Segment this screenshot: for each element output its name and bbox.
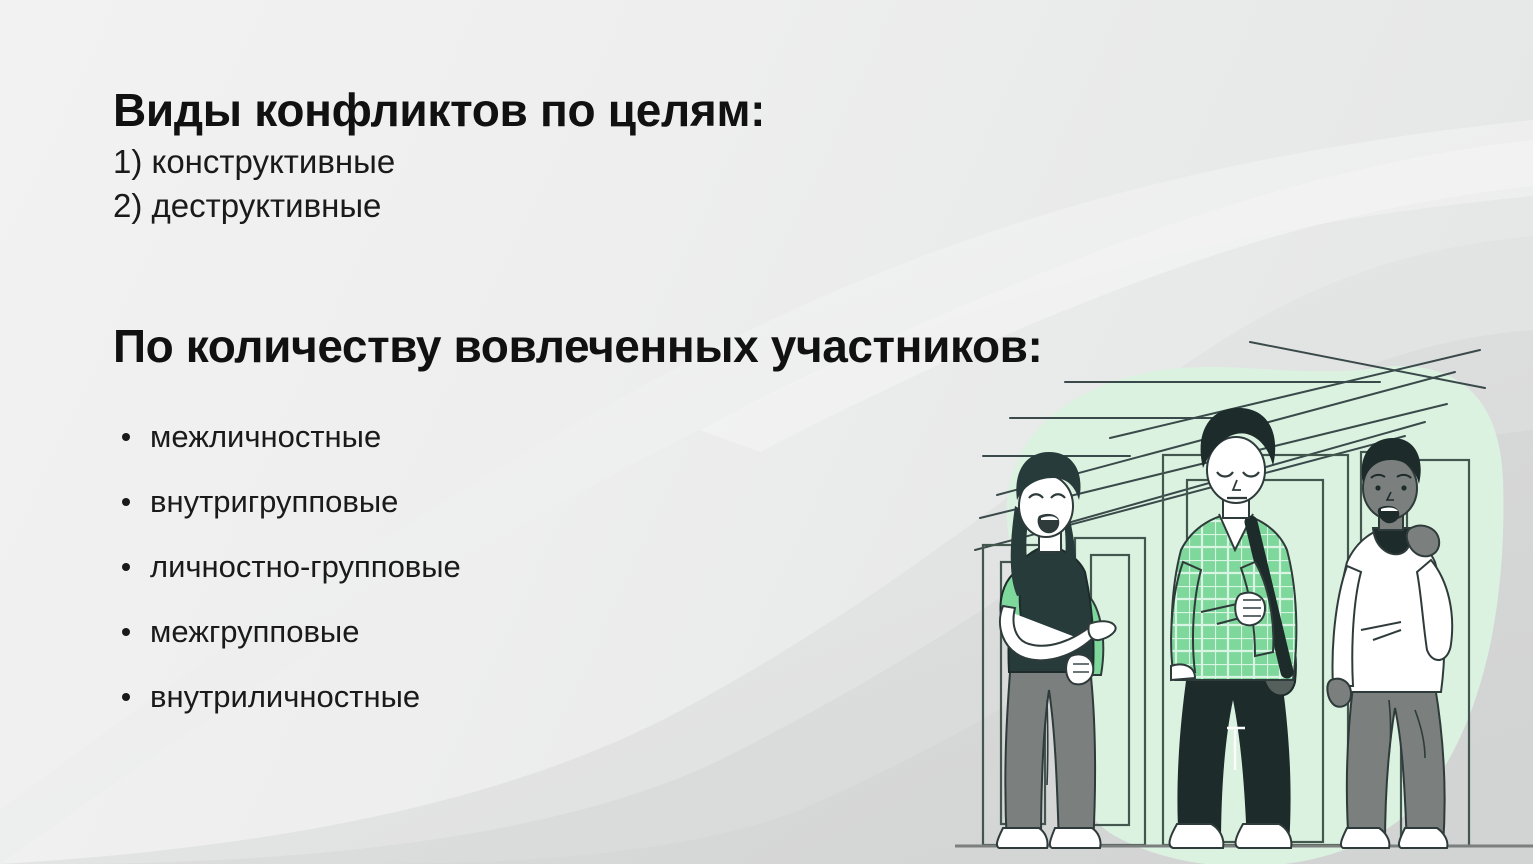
bullet-dot-icon — [122, 433, 130, 441]
list-item-label: внутриличностные — [150, 681, 420, 712]
boy-center-hand-on-strap — [1235, 593, 1265, 625]
girl-shoe-left — [997, 828, 1048, 848]
list-item: внутригрупповые — [118, 469, 461, 534]
list-item-label: межличностные — [150, 421, 381, 452]
boy-right-shoe-right — [1399, 828, 1447, 848]
bullet-dot-icon — [122, 628, 130, 636]
boy-right-eye-right — [1401, 485, 1406, 490]
boy-right-shoe-left — [1341, 828, 1389, 848]
list-item: личностно-групповые — [118, 534, 461, 599]
section-one-item-1: 1) конструктивные — [113, 140, 1043, 184]
list-item: межличностные — [118, 404, 461, 469]
boy-right-eye-left — [1375, 485, 1380, 490]
bullet-dot-icon — [122, 498, 130, 506]
bullet-dot-icon — [122, 563, 130, 571]
list-item: межгрупповые — [118, 599, 461, 664]
list-item: внутриличностные — [118, 664, 461, 729]
section-one: Виды конфликтов по целям: 1) конструктив… — [113, 86, 1043, 228]
slide-canvas: Виды конфликтов по целям: 1) конструктив… — [0, 0, 1533, 864]
section-one-item-2: 2) деструктивные — [113, 184, 1043, 228]
girl-pants — [1005, 660, 1095, 846]
boy-right-hand-down — [1327, 679, 1351, 707]
boy-center-shoe-left — [1170, 824, 1224, 848]
section-one-heading: Виды конфликтов по целям: — [113, 86, 1043, 136]
girl-shoe-right — [1050, 828, 1101, 848]
three-students-in-corridor-illustration — [955, 300, 1533, 864]
boy-center-shoe-right — [1236, 824, 1292, 848]
list-item-label: межгрупповые — [150, 616, 359, 647]
bullet-dot-icon — [122, 693, 130, 701]
list-item-label: внутригрупповые — [150, 486, 398, 517]
girl-hand-lower — [1066, 654, 1093, 684]
list-item-label: личностно-групповые — [150, 551, 461, 582]
section-two-bullet-list: межличностные внутригрупповые личностно-… — [118, 404, 461, 729]
